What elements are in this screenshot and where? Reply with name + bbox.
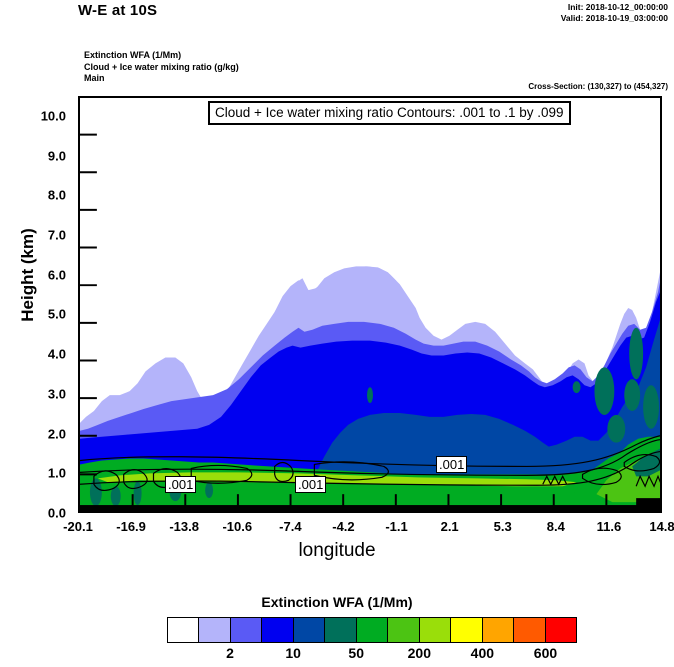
- colorbar-title: Extinction WFA (1/Mm): [0, 594, 674, 610]
- contour-value-label: .001: [295, 476, 326, 493]
- colorbar-cell: [388, 618, 419, 642]
- colorbar-cell: [231, 618, 262, 642]
- colorbar-cell: [514, 618, 545, 642]
- colorbar: [167, 617, 577, 643]
- x-tick-label: 14.8: [649, 519, 674, 534]
- colorbar-cell: [325, 618, 356, 642]
- colorbar-cell: [420, 618, 451, 642]
- x-tick-label: 8.4: [547, 519, 565, 534]
- cross-section-plot: .001 .001 .001 .001: [78, 96, 662, 513]
- colorbar-cell: [168, 618, 199, 642]
- y-tick-label: 8.0: [48, 188, 72, 203]
- y-tick-label: 10.0: [41, 108, 72, 123]
- y-tick-label: 1.0: [48, 466, 72, 481]
- y-tick-label: 5.0: [48, 307, 72, 322]
- y-tick-label: 9.0: [48, 148, 72, 163]
- contour-info-box: Cloud + Ice water mixing ratio Contours:…: [208, 101, 571, 125]
- x-tick-label: 5.3: [494, 519, 512, 534]
- colorbar-tick-label: 50: [348, 645, 364, 661]
- colorbar-cell: [451, 618, 482, 642]
- x-axis-ticks: -20.1-16.9-13.8-10.6-7.4-4.2-1.12.15.38.…: [0, 519, 674, 537]
- page-title: W-E at 10S: [78, 2, 157, 19]
- x-tick-label: -4.2: [332, 519, 354, 534]
- y-tick-label: 7.0: [48, 228, 72, 243]
- x-tick-label: -13.8: [169, 519, 199, 534]
- colorbar-cell: [294, 618, 325, 642]
- y-tick-label: 6.0: [48, 267, 72, 282]
- colorbar-tick-label: 2: [226, 645, 234, 661]
- x-tick-label: -1.1: [385, 519, 407, 534]
- y-tick-label: 2.0: [48, 426, 72, 441]
- x-tick-label: -7.4: [279, 519, 301, 534]
- contour-value-label: .001: [165, 476, 196, 493]
- ground-strip: [80, 505, 660, 511]
- y-tick-label: 3.0: [48, 386, 72, 401]
- colorbar-cell: [262, 618, 293, 642]
- x-axis-label: longitude: [0, 540, 674, 562]
- x-tick-label: 2.1: [441, 519, 459, 534]
- x-tick-label: 11.6: [597, 519, 622, 534]
- x-tick-label: -10.6: [222, 519, 252, 534]
- colorbar-tick-labels: 21050200400600: [0, 645, 674, 665]
- colorbar-tick-label: 200: [408, 645, 431, 661]
- colorbar-tick-label: 400: [471, 645, 494, 661]
- contour-value-label: .001: [436, 456, 467, 473]
- colorbar-cell: [199, 618, 230, 642]
- colorbar-tick-label: 600: [534, 645, 557, 661]
- colorbar-cell: [483, 618, 514, 642]
- colorbar-cell: [546, 618, 576, 642]
- contour-fill-canvas: [80, 98, 660, 511]
- y-axis-label: Height (km): [18, 155, 38, 395]
- colorbar-tick-label: 10: [285, 645, 301, 661]
- x-tick-label: -20.1: [63, 519, 93, 534]
- colorbar-cell: [357, 618, 388, 642]
- cross-section-label: Cross-Section: (130,327) to (454,327): [528, 82, 668, 91]
- x-tick-label: -16.9: [116, 519, 146, 534]
- init-time: Init: 2018-10-12_00:00:00: [561, 2, 668, 13]
- valid-time: Valid: 2018-10-19_03:00:00: [561, 13, 668, 24]
- field-line-domain: Main: [84, 73, 239, 85]
- field-line-extinction: Extinction WFA (1/Mm): [84, 50, 239, 62]
- field-line-mixing-ratio: Cloud + Ice water mixing ratio (g/kg): [84, 62, 239, 74]
- y-tick-label: 4.0: [48, 347, 72, 362]
- field-description-block: Extinction WFA (1/Mm) Cloud + Ice water …: [84, 50, 239, 85]
- ground-strip-right: [636, 498, 660, 511]
- run-time-block: Init: 2018-10-12_00:00:00 Valid: 2018-10…: [561, 2, 668, 24]
